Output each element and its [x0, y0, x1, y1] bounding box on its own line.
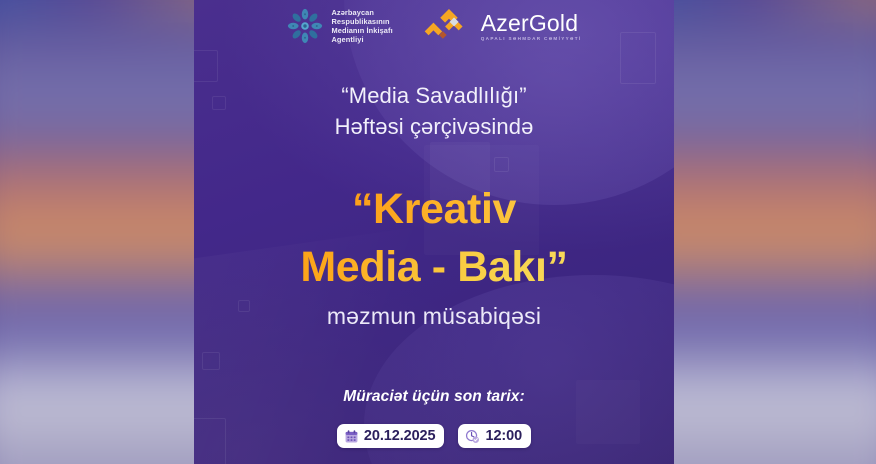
- headline: “Kreativ Media - Bakı”: [194, 180, 674, 296]
- poster-stage: Azərbaycan Respublikasının Medianın İnki…: [0, 0, 876, 464]
- kicker-text: “Media Savadlılığı” Həftəsi çərçivəsində: [194, 80, 674, 142]
- deadline-time-badge: 12:00: [458, 424, 531, 448]
- poster-subtitle: məzmun müsabiqəsi: [194, 303, 674, 330]
- deadline-badges: 20.12.2025 12:00: [194, 424, 674, 448]
- kicker-line-1: “Media Savadlılığı”: [341, 83, 526, 108]
- deadline-label: Müraciət üçün son tarix:: [194, 388, 674, 406]
- clock-icon: [465, 429, 480, 444]
- deadline-date-value: 20.12.2025: [364, 428, 436, 444]
- deadline-date-badge: 20.12.2025: [337, 424, 445, 448]
- headline-line-2: Media - Bakı”: [194, 238, 674, 296]
- poster-content: “Media Savadlılığı” Həftəsi çərçivəsində…: [194, 0, 674, 464]
- calendar-icon: [344, 429, 359, 444]
- kicker-line-2: Həftəsi çərçivəsində: [194, 111, 674, 142]
- promo-poster: Azərbaycan Respublikasının Medianın İnki…: [194, 0, 674, 464]
- deadline-time-value: 12:00: [485, 428, 522, 444]
- headline-line-1: “Kreativ: [194, 180, 674, 238]
